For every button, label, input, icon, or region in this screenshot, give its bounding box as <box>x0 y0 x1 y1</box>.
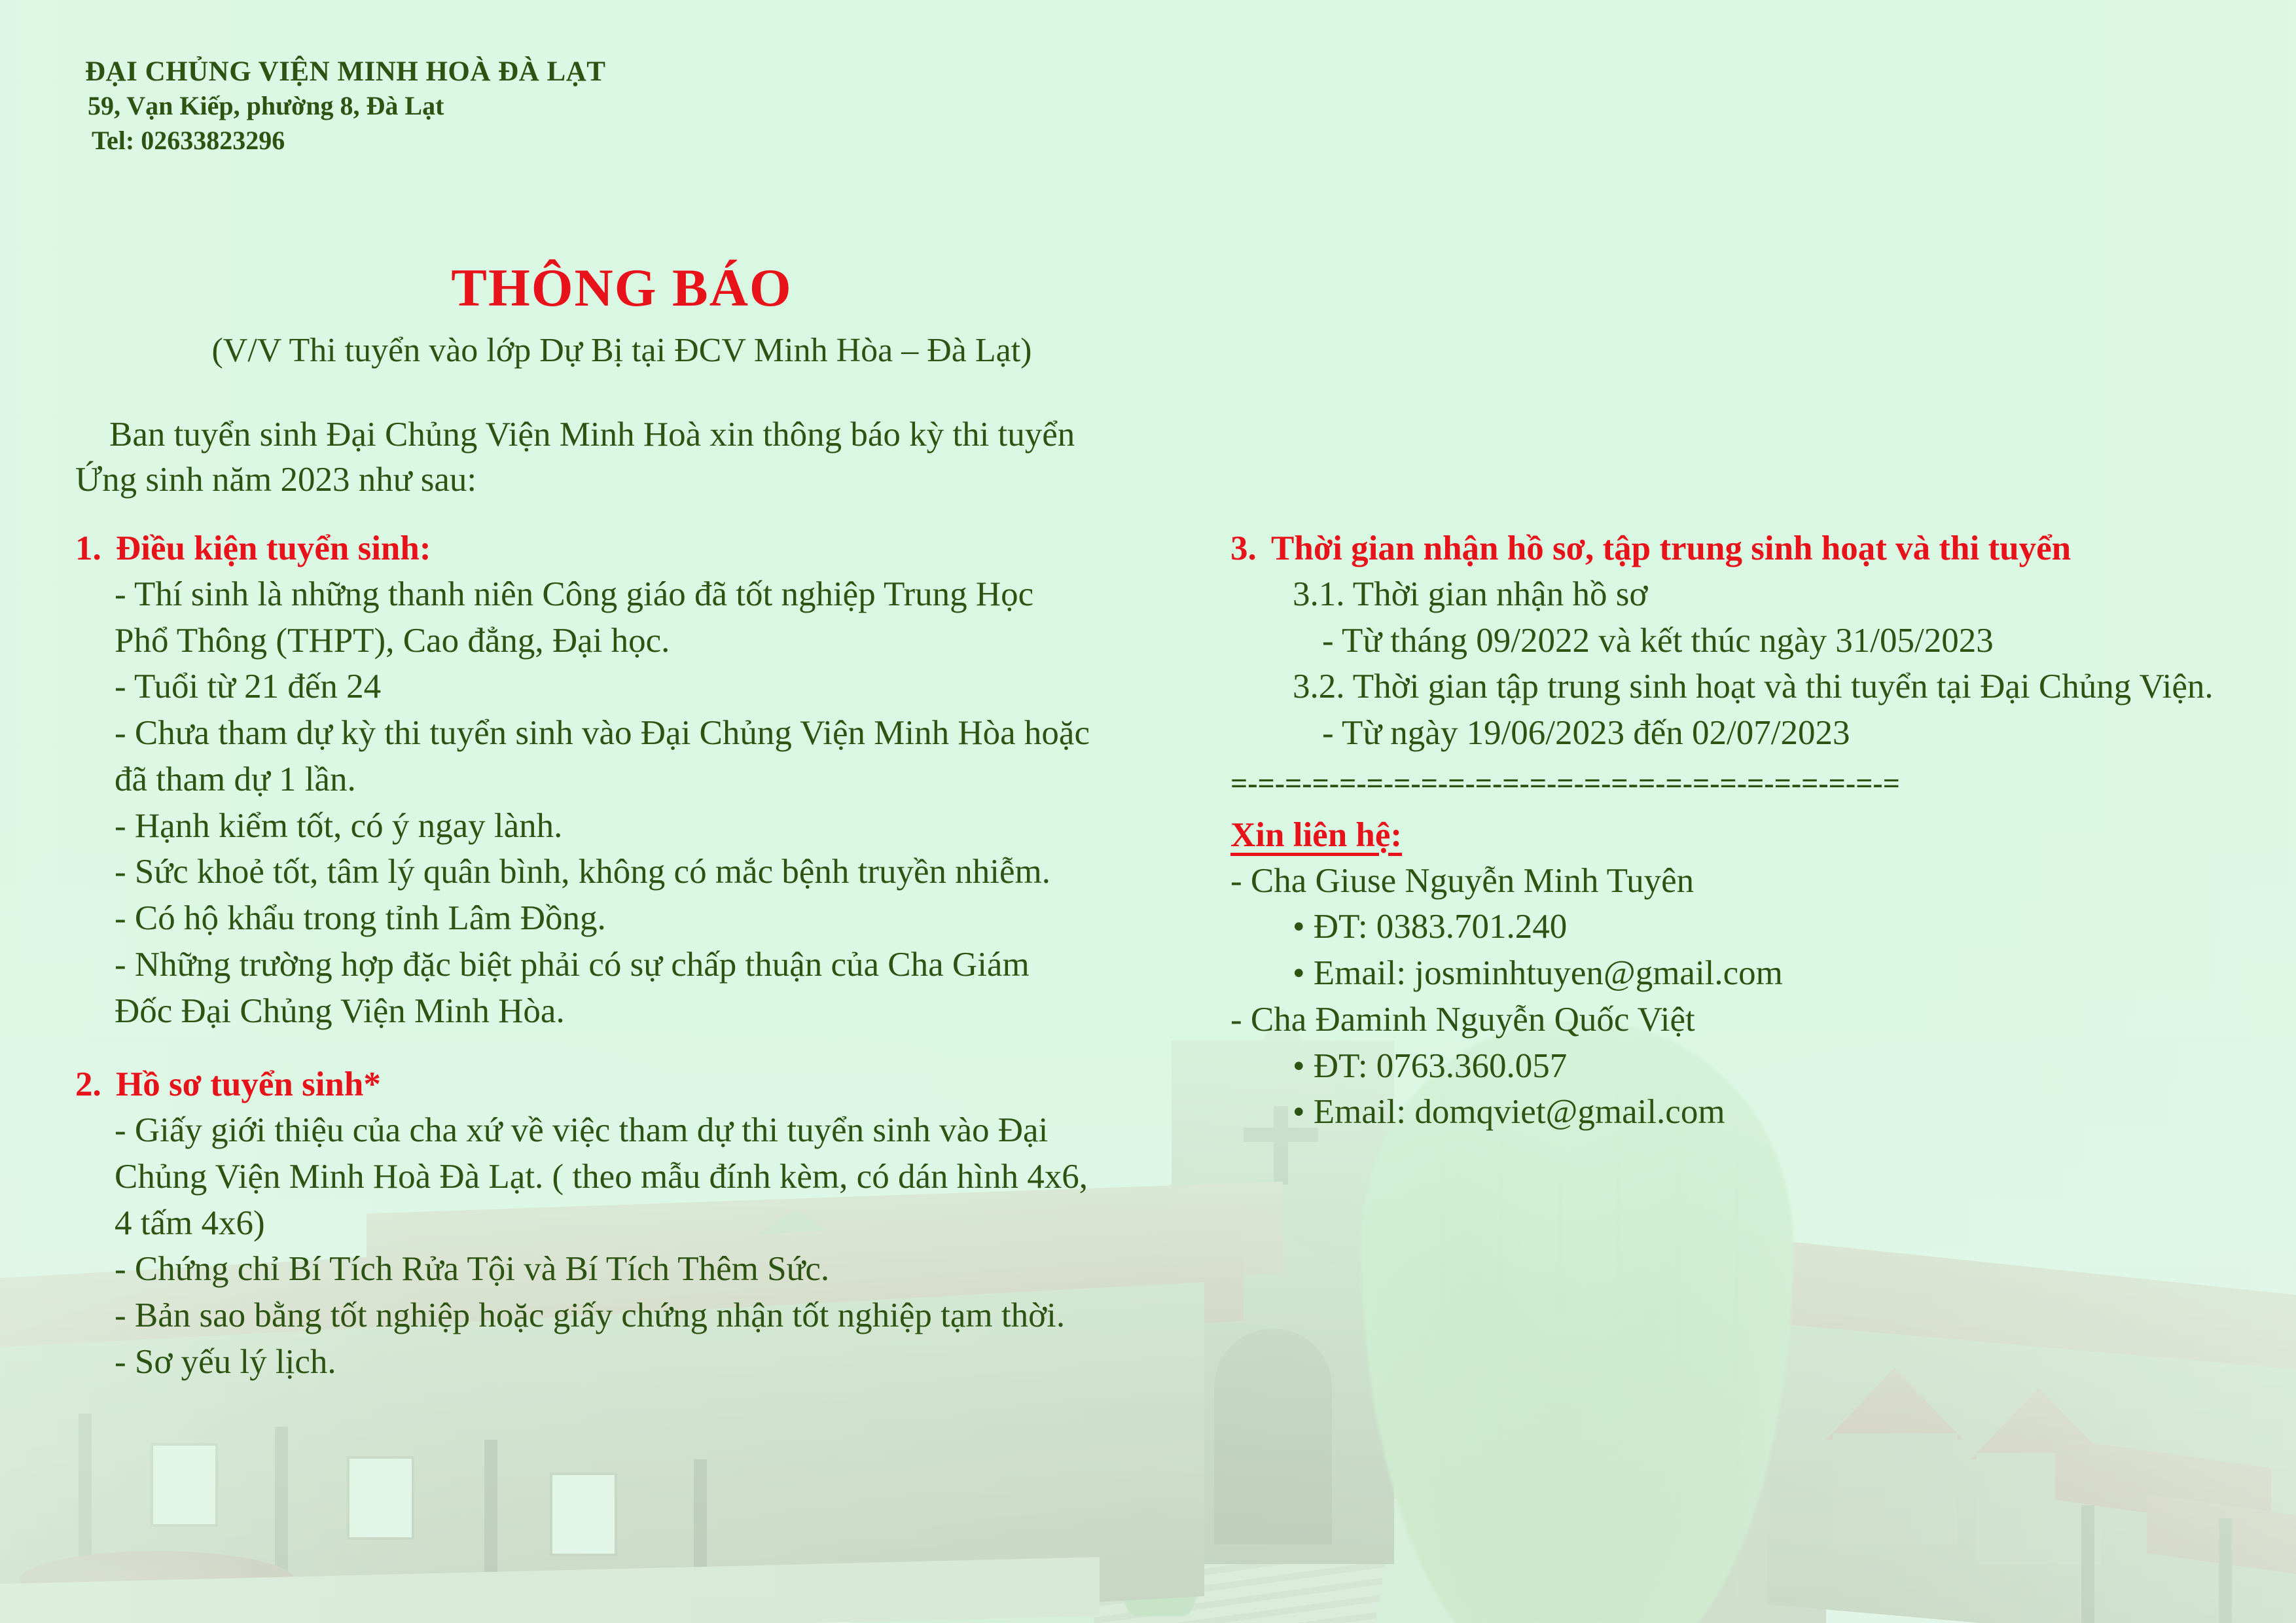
contact-person-1-email: • Email: josminhtuyen@gmail.com <box>1230 950 2265 997</box>
contact-heading: Xin liên hệ: <box>1230 813 1402 858</box>
section-3-2-item: - Từ ngày 19/06/2023 đến 02/07/2023 <box>1230 710 2265 757</box>
dashed-separator: =-=-=-=-=-=-=-=-=-=-=-=-=-=-=-=-=-=-=-=-… <box>1230 768 2265 798</box>
section-2-item-4: - Sơ yếu lý lịch. <box>75 1339 1188 1385</box>
section-1-item-1: - Thí sinh là những thanh niên Công giáo… <box>75 571 1188 618</box>
section-3-1-item: - Từ tháng 09/2022 và kết thúc ngày 31/0… <box>1230 618 2265 664</box>
title-block: THÔNG BÁO (V/V Thi tuyển vào lớp Dự Bị t… <box>0 259 1244 372</box>
section-spacer <box>75 1034 1188 1063</box>
document-content: ĐẠI CHỦNG VIỆN MINH HOÀ ĐÀ LẠT 59, Vạn K… <box>0 0 2296 1623</box>
announcement-page: ĐẠI CHỦNG VIỆN MINH HOÀ ĐÀ LẠT 59, Vạn K… <box>0 0 2296 1623</box>
section-3-2-label: 3.2. Thời gian tập trung sinh hoạt và th… <box>1230 664 2265 710</box>
section-1-item-6: - Có hộ khẩu trong tỉnh Lâm Đồng. <box>75 895 1188 942</box>
intro-line-1: Ban tuyển sinh Đại Chủng Viện Minh Hoà x… <box>75 412 1181 457</box>
document-title: THÔNG BÁO <box>0 259 1244 317</box>
section-1-item-5: - Sức khoẻ tốt, tâm lý quân bình, không … <box>75 849 1188 895</box>
section-2-item-1-cont-b: 4 tấm 4x6) <box>75 1200 1188 1247</box>
section-3-heading-text: Thời gian nhận hồ sơ, tập trung sinh hoạ… <box>1271 529 2071 567</box>
letterhead-address: 59, Vạn Kiếp, phường 8, Đà Lạt <box>85 89 605 124</box>
section-2-number: 2. <box>75 1063 116 1107</box>
section-1-item-7: - Những trường hợp đặc biệt phải có sự c… <box>75 942 1188 988</box>
contact-person-1-name: - Cha Giuse Nguyễn Minh Tuyên <box>1230 858 2265 904</box>
right-column: 3.Thời gian nhận hồ sơ, tập trung sinh h… <box>1230 527 2265 1135</box>
section-2-heading-text: Hồ sơ tuyển sinh* <box>116 1065 381 1103</box>
intro-line-2: Ứng sinh năm 2023 như sau: <box>75 457 1181 503</box>
section-1-item-3-cont: đã tham dự 1 lần. <box>75 757 1188 803</box>
section-3-number: 3. <box>1230 527 1271 571</box>
section-1-item-7-cont: Đốc Đại Chủng Viện Minh Hòa. <box>75 988 1188 1035</box>
section-2-item-1-cont-a: Chủng Viện Minh Hoà Đà Lạt. ( theo mẫu đ… <box>75 1154 1188 1200</box>
contact-person-2-email: • Email: domqviet@gmail.com <box>1230 1089 2265 1135</box>
section-2-item-3: - Bản sao bằng tốt nghiệp hoặc giấy chứn… <box>75 1293 1188 1339</box>
section-1-number: 1. <box>75 527 116 571</box>
section-2-heading: 2.Hồ sơ tuyển sinh* <box>75 1063 1188 1107</box>
contact-person-2-phone: • ĐT: 0763.360.057 <box>1230 1043 2265 1090</box>
section-3-heading: 3.Thời gian nhận hồ sơ, tập trung sinh h… <box>1230 527 2265 571</box>
letterhead: ĐẠI CHỦNG VIỆN MINH HOÀ ĐÀ LẠT 59, Vạn K… <box>85 56 605 158</box>
section-1-item-4: - Hạnh kiểm tốt, có ý ngay lành. <box>75 803 1188 849</box>
left-column: 1.Điều kiện tuyển sinh: - Thí sinh là nh… <box>75 527 1188 1385</box>
letterhead-telephone: Tel: 02633823296 <box>85 124 605 158</box>
letterhead-organization: ĐẠI CHỦNG VIỆN MINH HOÀ ĐÀ LẠT <box>85 56 605 89</box>
section-1-item-1-cont: Phổ Thông (THPT), Cao đẳng, Đại học. <box>75 618 1188 664</box>
section-1-item-3: - Chưa tham dự kỳ thi tuyển sinh vào Đại… <box>75 710 1188 757</box>
contact-person-1-phone: • ĐT: 0383.701.240 <box>1230 904 2265 950</box>
contact-block: Xin liên hệ: - Cha Giuse Nguyễn Minh Tuy… <box>1230 813 2265 1135</box>
section-1-item-2: - Tuổi từ 21 đến 24 <box>75 664 1188 710</box>
section-3-1-label: 3.1. Thời gian nhận hồ sơ <box>1230 571 2265 618</box>
intro-paragraph: Ban tuyển sinh Đại Chủng Viện Minh Hoà x… <box>75 412 1181 503</box>
section-2-item-2: - Chứng chỉ Bí Tích Rửa Tội và Bí Tích T… <box>75 1246 1188 1293</box>
section-1-heading: 1.Điều kiện tuyển sinh: <box>75 527 1188 571</box>
section-1-heading-text: Điều kiện tuyển sinh: <box>116 529 431 567</box>
document-subtitle: (V/V Thi tuyển vào lớp Dự Bị tại ĐCV Min… <box>0 330 1244 371</box>
contact-person-2-name: - Cha Đaminh Nguyễn Quốc Việt <box>1230 997 2265 1043</box>
section-2-item-1: - Giấy giới thiệu của cha xứ về việc tha… <box>75 1107 1188 1154</box>
